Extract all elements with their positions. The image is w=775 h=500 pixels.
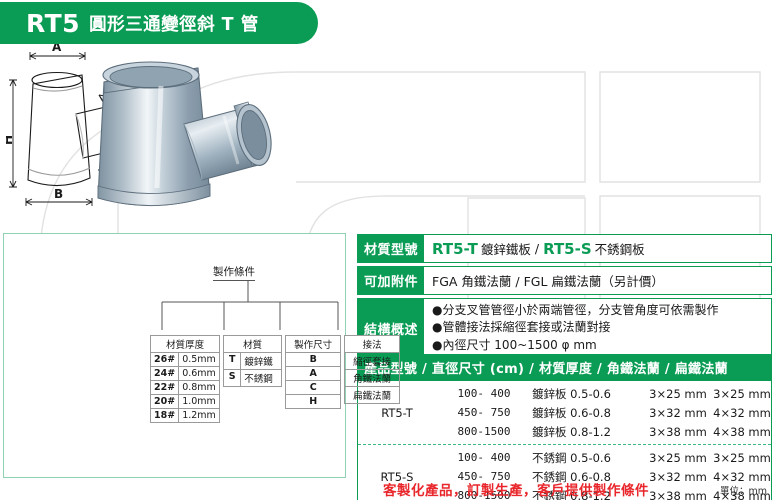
cond-row: A <box>285 366 341 380</box>
spec-flat-flange: 4×32 mm <box>712 404 772 421</box>
cond-row: 18#1.2mm <box>150 408 220 423</box>
cond-row: 26#0.5mm <box>150 352 220 366</box>
info-label: 可加附件 <box>358 267 424 294</box>
cond-row: 22#0.8mm <box>150 380 220 394</box>
col-header: 材質厚度 <box>150 335 220 352</box>
cond-row: 24#0.6mm <box>150 366 220 380</box>
spec-angle-flange: 3×38 mm <box>644 487 712 500</box>
info-row-accessories: 可加附件 FGA 角鐵法蘭 / FGL 扁鐵法蘭（另計價） <box>357 266 772 295</box>
conditions-tree-connector <box>152 280 344 332</box>
cond-key: T <box>224 353 241 369</box>
footer-unit: 單位：mm <box>720 483 767 497</box>
spec-angle-flange: 3×38 mm <box>644 423 712 440</box>
datasheet-page: RT5 圓形三通變徑斜 T 管 <box>0 0 775 500</box>
spec-thickness: 不銹鋼 0.5-0.6 <box>532 448 644 467</box>
spec-angle-flange: 3×32 mm <box>644 404 712 421</box>
cond-row: S不銹鋼 <box>223 369 282 387</box>
info-panel: 材質型號 RT5-T 鍍鋅鐵板 / RT5-S 不銹鋼板 可加附件 FGA 角鐵… <box>357 234 772 361</box>
cond-value: 0.8mm <box>179 381 219 394</box>
model-s-desc: 不銹鋼板 <box>595 239 645 258</box>
info-row-material-model: 材質型號 RT5-T 鍍鋅鐵板 / RT5-S 不銹鋼板 <box>357 234 772 263</box>
svg-text:H: H <box>6 135 15 145</box>
cond-value: H <box>286 395 340 408</box>
spec-flat-flange: 3×25 mm <box>712 449 772 466</box>
cond-key: 22# <box>151 381 179 394</box>
spec-diameter: 450- 750 <box>436 405 532 421</box>
cond-value: A <box>286 367 340 380</box>
col-header: 製作尺寸 <box>285 335 341 352</box>
cond-value: 角鐵法蘭 <box>345 370 399 386</box>
cond-row: C <box>285 380 341 394</box>
col-header: 接法 <box>344 335 400 352</box>
spec-group-rt5t: RT5-T 100- 400 鍍鋅板 0.5-0.6 3×25 mm 3×25 … <box>358 384 771 441</box>
product-illustration <box>58 46 308 232</box>
cond-value: 不銹鋼 <box>241 370 281 386</box>
structure-bullet: ●管體接法採縮徑套接或法蘭對接 <box>432 319 610 336</box>
product-code: RT5 <box>26 9 80 38</box>
spec-thickness: 鍍鋅板 0.5-0.6 <box>532 384 644 403</box>
cond-key: 18# <box>151 409 179 422</box>
cond-key: 24# <box>151 367 179 380</box>
structure-bullet: ●內徑尺寸 100~1500 φ mm <box>432 337 597 354</box>
page-title: 圓形三通變徑斜 T 管 <box>89 11 259 36</box>
spec-thickness: 鍍鋅板 0.8-1.2 <box>532 422 644 441</box>
conditions-table: 材質厚度 26#0.5mm 24#0.6mm 22#0.8mm 20#1.0mm… <box>150 335 403 423</box>
spec-angle-flange: 3×32 mm <box>644 468 712 485</box>
spec-thickness: 鍍鋅板 0.6-0.8 <box>532 403 644 422</box>
col-header: 材質 <box>223 335 282 352</box>
conditions-col-thickness: 材質厚度 26#0.5mm 24#0.6mm 22#0.8mm 20#1.0mm… <box>150 335 220 423</box>
info-value: FGA 角鐵法蘭 / FGL 扁鐵法蘭（另計價） <box>424 267 771 294</box>
conditions-col-dimensions: 製作尺寸 B A C H <box>285 335 341 409</box>
page-header: RT5 圓形三通變徑斜 T 管 <box>0 2 318 44</box>
cond-value: 扁鐵法蘭 <box>345 387 399 403</box>
conditions-col-connection: 接法 縮徑套接 角鐵法蘭 扁鐵法蘭 <box>344 335 400 404</box>
cond-value: 縮徑套接 <box>345 353 399 369</box>
model-separator: / <box>535 241 539 256</box>
conditions-title: 製作條件 <box>213 264 255 281</box>
structure-bullet: ●分支叉管管徑小於兩端管徑，分支管角度可依需製作 <box>432 302 718 319</box>
cond-value: 1.0mm <box>179 395 219 408</box>
spec-diameter: 800-1500 <box>436 424 532 440</box>
model-t-code: RT5-T <box>432 240 478 258</box>
info-value: ●分支叉管管徑小於兩端管徑，分支管角度可依需製作 ●管體接法採縮徑套接或法蘭對接… <box>424 299 771 357</box>
model-s-code: RT5-S <box>543 240 592 258</box>
spec-angle-flange: 3×25 mm <box>644 385 712 402</box>
cond-row: H <box>285 394 341 409</box>
spec-table-header: 產品型號 / 直徑尺寸 (cm) / 材質厚度 / 角鐵法蘭 / 扁鐵法蘭 <box>357 354 772 381</box>
cond-value: 0.6mm <box>179 367 219 380</box>
cond-value: B <box>286 353 340 366</box>
spec-flat-flange: 3×25 mm <box>712 385 772 402</box>
cond-row: 20#1.0mm <box>150 394 220 408</box>
model-t-desc: 鍍鋅鐵板 <box>481 239 531 258</box>
cond-row: 角鐵法蘭 <box>344 369 400 386</box>
cond-row: 縮徑套接 <box>344 352 400 369</box>
cond-row: T鍍鋅鐵 <box>223 352 282 369</box>
spec-angle-flange: 3×25 mm <box>644 449 712 466</box>
info-row-structure: 結構概述 ●分支叉管管徑小於兩端管徑，分支管角度可依需製作 ●管體接法採縮徑套接… <box>357 298 772 358</box>
footer-note: 客製化產品，訂製生產，客戶提供製作條件 <box>383 479 649 499</box>
cond-key: 26# <box>151 353 179 366</box>
cond-value: 1.2mm <box>179 409 219 422</box>
cond-key: S <box>224 370 241 386</box>
spec-diameter: 100- 400 <box>436 386 532 402</box>
spec-flat-flange: 4×38 mm <box>712 423 772 440</box>
spec-diameter: 100- 400 <box>436 450 532 466</box>
cond-key: 20# <box>151 395 179 408</box>
cond-value: C <box>286 381 340 394</box>
cond-row: B <box>285 352 341 366</box>
info-label: 材質型號 <box>358 235 424 262</box>
cond-value: 鍍鋅鐵 <box>241 353 281 369</box>
info-value: RT5-T 鍍鋅鐵板 / RT5-S 不銹鋼板 <box>424 235 771 262</box>
conditions-col-material: 材質 T鍍鋅鐵 S不銹鋼 <box>223 335 282 387</box>
cond-row: 扁鐵法蘭 <box>344 386 400 404</box>
cond-value: 0.5mm <box>179 353 219 366</box>
